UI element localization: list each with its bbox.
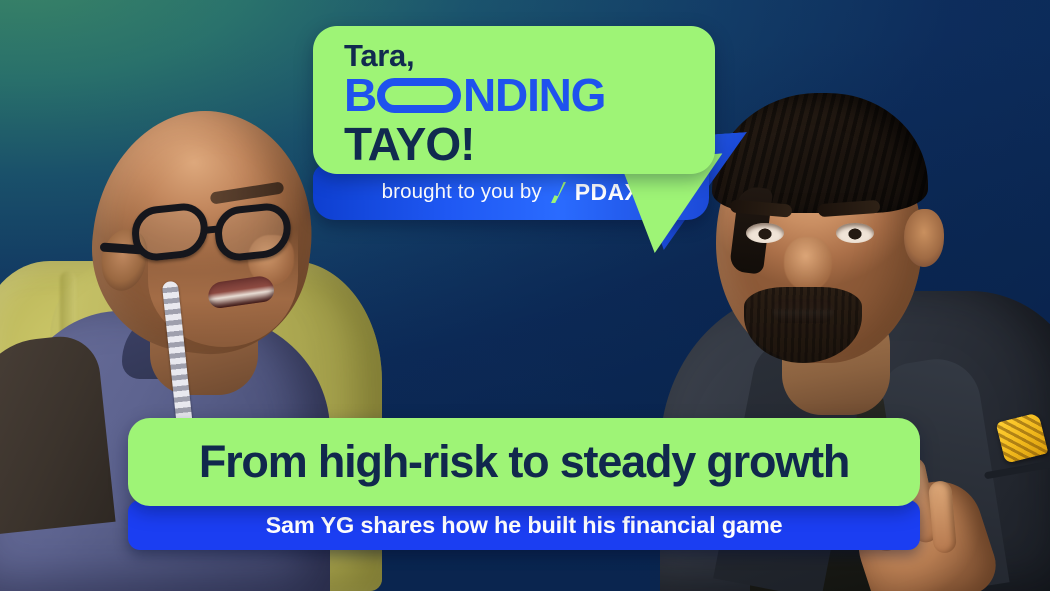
logo-line-tayo: TAYO! xyxy=(344,120,715,168)
pdax-slash-icon xyxy=(551,182,566,203)
headline-banner: From high-risk to steady growth xyxy=(128,418,920,506)
speech-bubble: Tara, B NDING TAYO! xyxy=(313,26,715,174)
sponsor-prefix-label: brought to you by xyxy=(382,180,542,204)
show-logo-lockup: brought to you by PDAX Tara, B NDING TAY… xyxy=(313,26,733,216)
subhead-text: Sam YG shares how he built his financial… xyxy=(266,512,783,539)
logo-double-o-pill xyxy=(377,78,461,113)
headline-text: From high-risk to steady growth xyxy=(199,436,849,488)
right-host-eye-right xyxy=(836,223,874,243)
subhead-banner: Sam YG shares how he built his financial… xyxy=(128,500,920,550)
video-thumbnail: brought to you by PDAX Tara, B NDING TAY… xyxy=(0,0,1050,591)
logo-boonding-b: B xyxy=(344,72,376,118)
right-host-nose xyxy=(784,237,832,291)
logo-line-boonding: B NDING xyxy=(344,72,715,118)
right-host-ear xyxy=(904,209,944,267)
right-host-eye-left xyxy=(746,223,784,243)
logo-line-tara: Tara, xyxy=(344,39,715,73)
logo-boonding-suffix: NDING xyxy=(463,72,605,118)
